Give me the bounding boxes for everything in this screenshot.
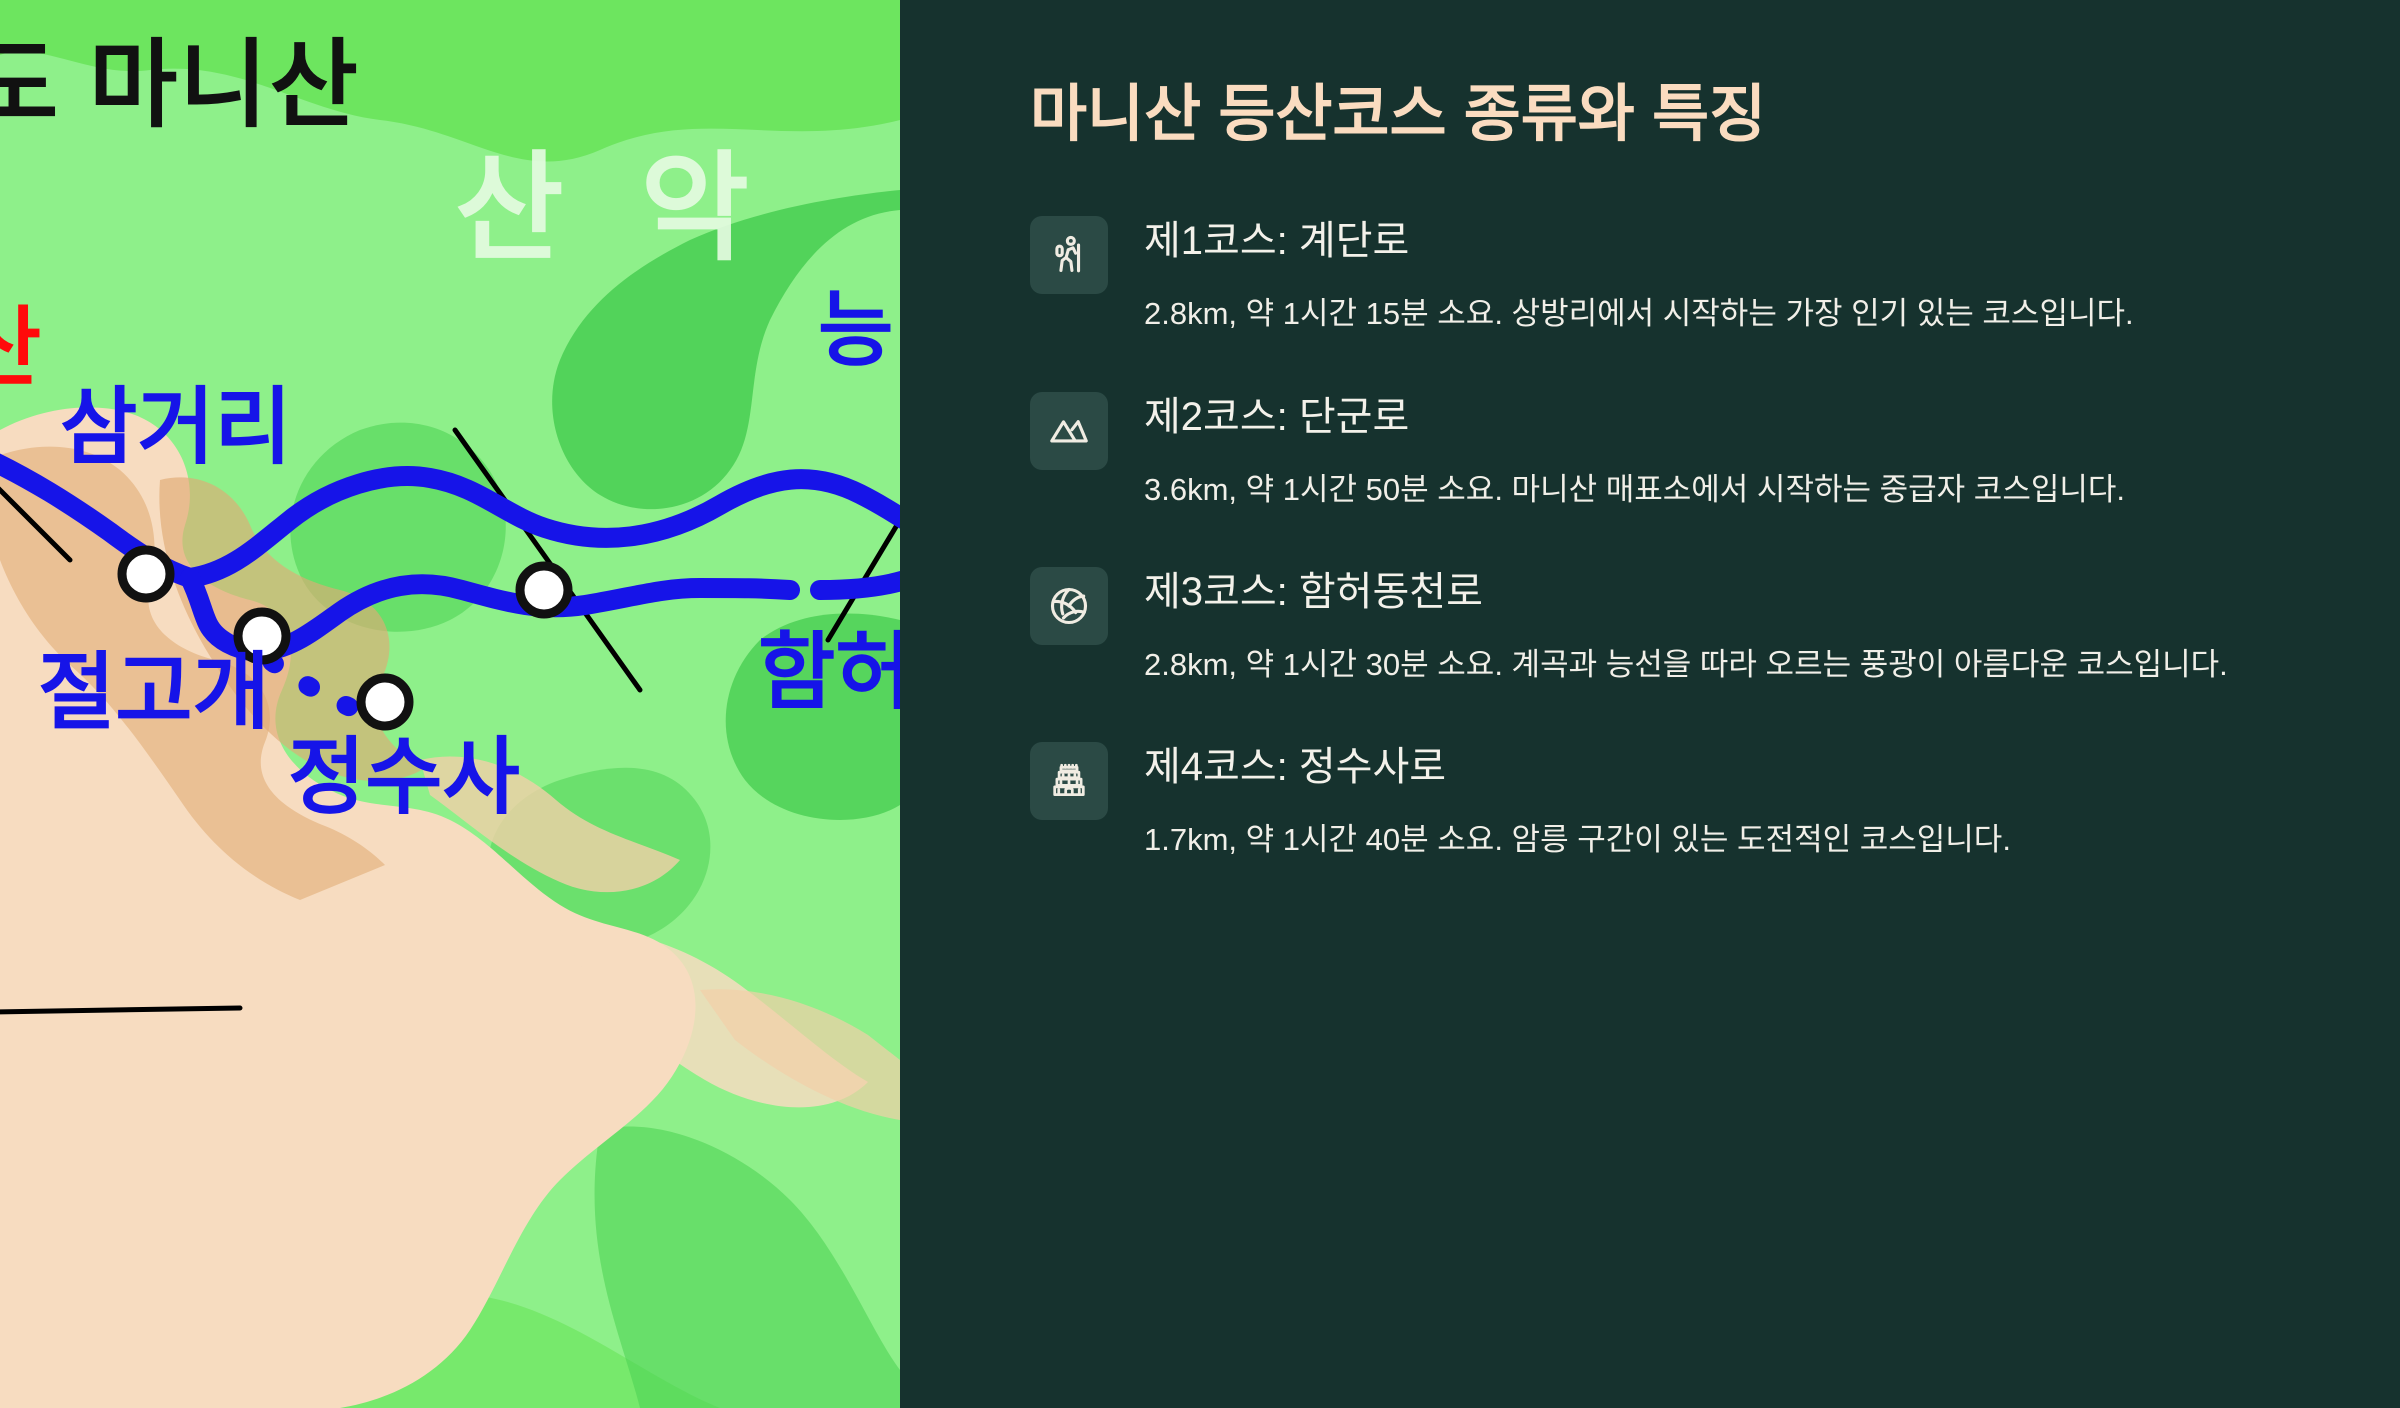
page-title: 마니산 등산코스 종류와 특징 bbox=[1030, 78, 2285, 152]
list-item[interactable]: 제3코스: 함허동천로 2.8km, 약 1시간 30분 소요. 계곡과 능선을… bbox=[1030, 565, 2285, 688]
course-name: 제2코스: 단군로 bbox=[1144, 392, 2285, 442]
course-description: 1.7km, 약 1시간 40분 소요. 암릉 구간이 있는 도전적인 코스입니… bbox=[1144, 816, 2259, 863]
course-name: 제1코스: 계단로 bbox=[1144, 216, 2285, 266]
course-info-panel: 마니산 등산코스 종류와 특징 제1코스: 계단로 2.8km, bbox=[900, 0, 2400, 1408]
course-body: 제2코스: 단군로 3.6km, 약 1시간 50분 소요. 마니산 매표소에서… bbox=[1144, 390, 2285, 513]
node-jeolgogae bbox=[238, 612, 286, 660]
temple-icon bbox=[1030, 742, 1108, 820]
node-samgeori bbox=[122, 550, 170, 598]
map-graphic bbox=[0, 0, 900, 1408]
course-description: 3.6km, 약 1시간 50분 소요. 마니산 매표소에서 시작하는 중급자 … bbox=[1144, 466, 2259, 513]
list-item[interactable]: 제4코스: 정수사로 1.7km, 약 1시간 40분 소요. 암릉 구간이 있… bbox=[1030, 740, 2285, 863]
node-jeongsusa bbox=[361, 678, 409, 726]
course-description: 2.8km, 약 1시간 30분 소요. 계곡과 능선을 따라 오르는 풍광이 … bbox=[1144, 641, 2259, 688]
course-name: 제4코스: 정수사로 bbox=[1144, 742, 2285, 792]
node-hamheo bbox=[520, 566, 568, 614]
list-item[interactable]: 제2코스: 단군로 3.6km, 약 1시간 50분 소요. 마니산 매표소에서… bbox=[1030, 390, 2285, 513]
trail-map[interactable]: 도 마니산 산 악 능 산 삼거리 절고개 정수사 함허 bbox=[0, 0, 900, 1408]
course-body: 제4코스: 정수사로 1.7km, 약 1시간 40분 소요. 암릉 구간이 있… bbox=[1144, 740, 2285, 863]
mountain-icon bbox=[1030, 392, 1108, 470]
list-item[interactable]: 제1코스: 계단로 2.8km, 약 1시간 15분 소요. 상방리에서 시작하… bbox=[1030, 214, 2285, 337]
trail-course-3-east bbox=[820, 580, 900, 590]
course-body: 제1코스: 계단로 2.8km, 약 1시간 15분 소요. 상방리에서 시작하… bbox=[1144, 214, 2285, 337]
volleyball-icon bbox=[1030, 567, 1108, 645]
course-list: 제1코스: 계단로 2.8km, 약 1시간 15분 소요. 상방리에서 시작하… bbox=[1030, 214, 2285, 862]
screenshot-root: 도 마니산 산 악 능 산 삼거리 절고개 정수사 함허 마니산 등산코스 종류… bbox=[0, 0, 2400, 1408]
course-body: 제3코스: 함허동천로 2.8km, 약 1시간 30분 소요. 계곡과 능선을… bbox=[1144, 565, 2285, 688]
course-name: 제3코스: 함허동천로 bbox=[1144, 567, 2285, 617]
hiker-icon bbox=[1030, 216, 1108, 294]
course-description: 2.8km, 약 1시간 15분 소요. 상방리에서 시작하는 가장 인기 있는… bbox=[1144, 290, 2259, 337]
